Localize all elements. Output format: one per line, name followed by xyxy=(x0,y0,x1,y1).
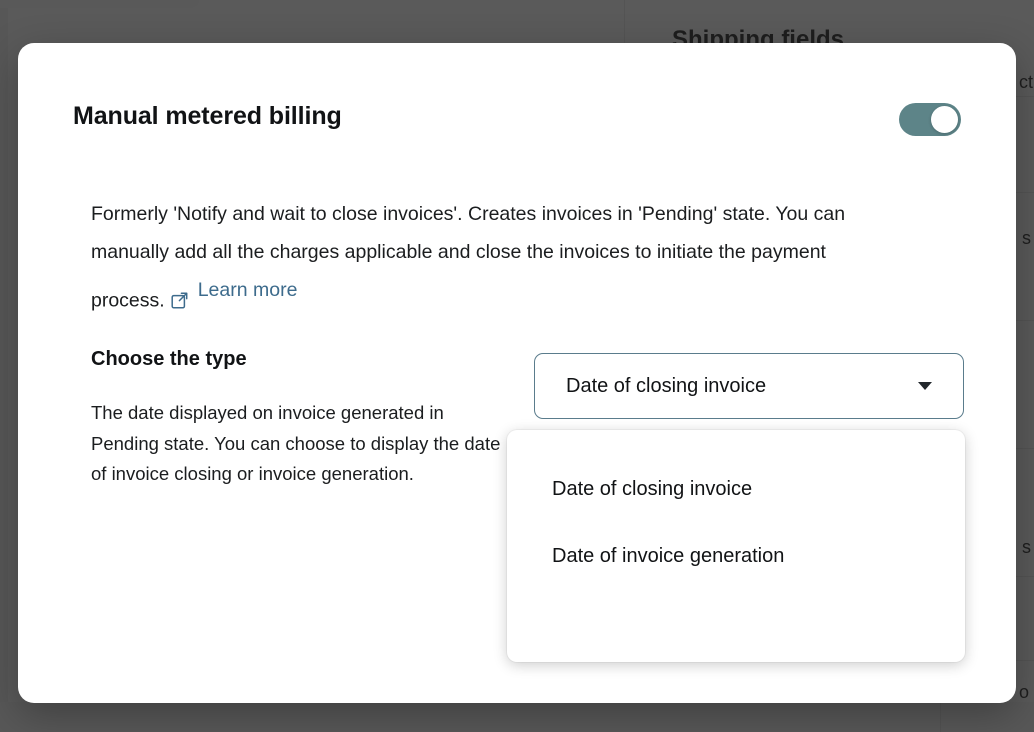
date-type-select[interactable]: Date of closing invoice xyxy=(534,353,964,419)
date-type-dropdown-menu: Date of closing invoice Date of invoice … xyxy=(507,430,965,662)
learn-more-link[interactable]: Learn more xyxy=(198,271,298,309)
chevron-down-icon xyxy=(918,382,932,390)
choose-type-description: The date displayed on invoice generated … xyxy=(91,398,511,490)
modal-header-row: Manual metered billing xyxy=(73,101,961,136)
learn-more-group[interactable]: Learn more xyxy=(165,271,298,309)
external-link-icon xyxy=(171,284,188,301)
manual-metered-billing-toggle[interactable] xyxy=(899,103,961,136)
dropdown-option-date-of-closing-invoice[interactable]: Date of closing invoice xyxy=(507,456,965,523)
date-type-select-value: Date of closing invoice xyxy=(566,375,918,398)
modal-description: Formerly 'Notify and wait to close invoi… xyxy=(91,195,901,320)
toggle-knob xyxy=(931,106,958,133)
dropdown-option-date-of-invoice-generation[interactable]: Date of invoice generation xyxy=(507,523,965,590)
manual-metered-billing-modal: Manual metered billing Formerly 'Notify … xyxy=(18,43,1016,703)
modal-title: Manual metered billing xyxy=(73,101,342,131)
choose-type-heading: Choose the type xyxy=(91,348,247,371)
